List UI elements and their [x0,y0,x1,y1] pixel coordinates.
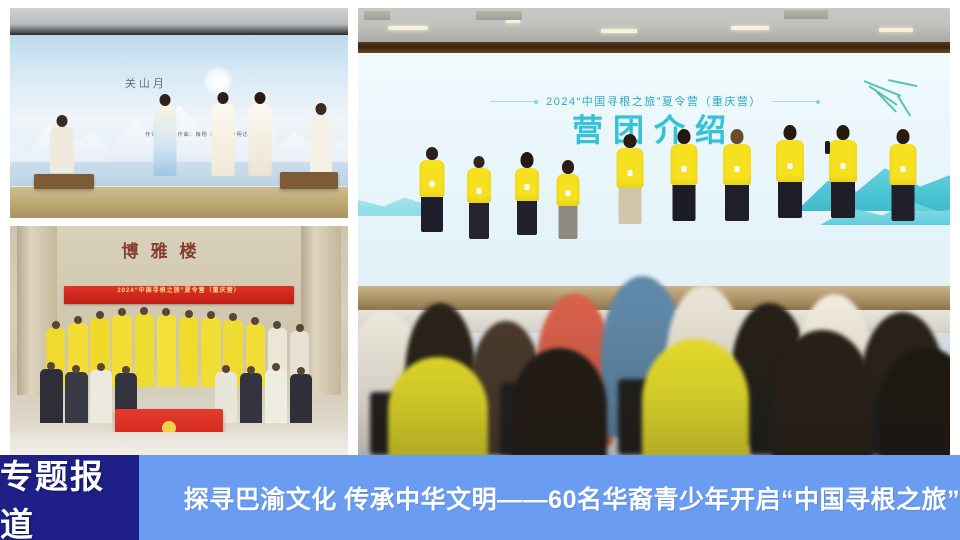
performer-head [255,92,266,104]
audience-member-front-dark [772,330,873,455]
student-on-stage [660,129,707,285]
ceiling-vent [476,11,522,20]
performer-singer-1 [145,94,186,186]
performer-body [211,104,234,176]
student-badge [628,170,633,176]
ceiling-light [879,28,913,32]
performer-singer-3 [240,92,281,187]
microphone-icon [825,141,830,154]
ceiling-vent [784,10,828,19]
student-yellow-shirt [829,140,857,182]
student-on-stage [459,156,500,286]
student-head [896,129,909,144]
news-photo-feature-page: 关山月 作词：李白 作曲：梅翔 演唱：(卢明达)婷婷 等 [0,0,960,540]
student-on-stage [506,152,547,286]
ceiling-light [388,26,428,30]
student-yellow-shirt [889,144,916,185]
student-head [426,147,438,160]
student-head [677,129,690,144]
conference-ceiling [358,8,950,42]
feature-banner: 专题报道 探寻巴渝文化 传承中华文明——60名华裔青少年开启“中国寻根之旅” [0,455,960,540]
student-on-stage [879,129,926,285]
student-legs [725,185,749,221]
student-head [474,156,485,168]
performer-body [50,127,74,173]
student-on-stage [713,129,760,285]
person [240,373,262,423]
person [90,370,112,423]
person [179,317,198,388]
student-badge [734,166,739,172]
audience-member-front-dark [512,348,607,455]
student-legs [891,185,914,221]
student-yellow-shirt [776,140,804,182]
student-head [784,125,797,140]
student-legs [778,182,802,218]
photo-collage: 关山月 作词：李白 作曲：梅翔 演唱：(卢明达)婷婷 等 [10,8,950,455]
photo-top-left-concert: 关山月 作词：李白 作曲：梅翔 演唱：(卢明达)婷婷 等 [10,8,348,218]
performer-head [315,103,326,115]
student-badge [477,188,482,194]
student-yellow-shirt [723,144,751,185]
person [135,314,154,387]
performer-head [57,115,68,127]
student-legs [559,206,578,239]
performer-body [249,104,272,176]
student-badge [681,166,686,172]
student-head [562,160,574,174]
student-head [730,129,743,144]
guzheng-instrument [34,174,95,189]
performer-head [217,92,228,104]
student-yellow-shirt [670,144,697,185]
person [65,372,87,423]
group-photo-crowd [40,295,317,423]
student-yellow-shirt [419,160,444,197]
student-on-stage [607,134,654,286]
student-legs [469,203,489,239]
banner-tag-label: 专题报道 [0,450,139,540]
student-on-stage-with-microphone [820,125,867,286]
audience-member-front-yellow [388,357,489,455]
ceiling-vent [364,11,390,20]
performer-singer-2 [203,92,244,187]
ceiling-light [731,26,769,30]
performer-body [310,115,332,175]
student-legs [517,201,537,235]
person [290,374,312,423]
student-badge [524,184,529,190]
student-head [624,134,637,148]
student-badge [788,163,793,169]
student-badge [841,163,846,169]
performer-body [154,106,177,176]
student-head [837,125,850,140]
building-plaque-text: 博雅楼 [122,237,209,262]
banner-headline-area: 探寻巴渝文化 传承中华文明——60名华裔青少年开启“中国寻根之旅” [139,455,960,540]
student-yellow-shirt [617,148,644,188]
audience-member-front-yellow [642,339,749,455]
student-head [520,152,533,168]
screen-song-title: 关山月 [125,75,167,91]
person [265,370,287,423]
person [157,315,176,387]
decor-line-right [772,101,818,102]
student-badge [566,190,571,196]
person [40,369,62,423]
student-badge [429,181,434,187]
student-legs [421,197,443,232]
decor-line-left [490,101,536,102]
stage-floor [10,187,348,219]
performer-head [160,94,171,106]
ceiling-light [601,29,637,33]
student-badge [900,166,905,172]
photo-main-camp-introduction: 2024“中国寻根之旅”夏令营（重庆营） 营团介绍 [358,8,950,455]
student-legs [831,182,855,218]
student-legs [672,185,695,221]
photo-bottom-left-group: 博雅楼 2024“中国寻根之旅”夏令营（重庆营） [10,226,348,455]
banner-headline: 探寻巴渝文化 传承中华文明——60名华裔青少年开启“中国寻根之旅” [139,480,960,516]
student-yellow-shirt [467,168,491,203]
student-on-stage [547,160,588,285]
student-on-stage [766,125,813,286]
ceiling-wood-rail [358,42,950,54]
ceiling-strip [10,8,348,35]
student-legs [619,188,642,224]
student-on-stage [411,147,452,286]
percussion-stand [280,172,337,189]
banner-category-tag: 专题报道 [0,455,139,540]
